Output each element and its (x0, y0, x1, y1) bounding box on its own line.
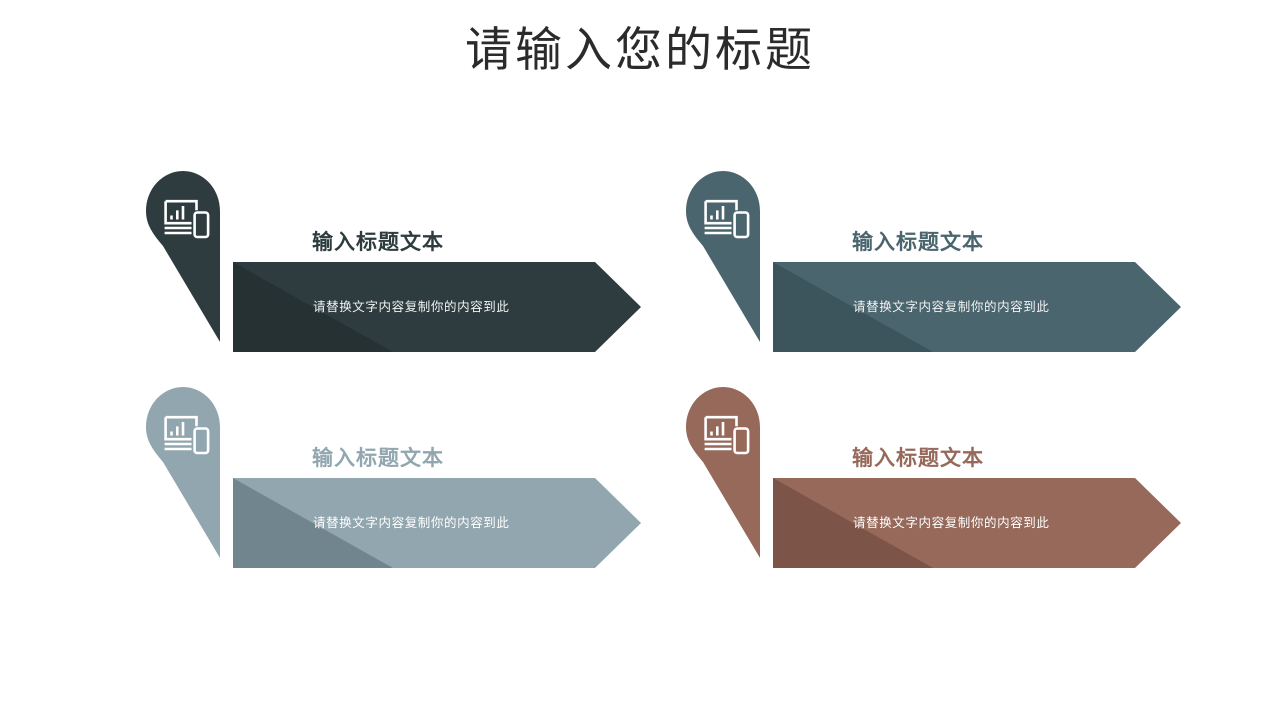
info-card[interactable]: 输入标题文本 请替换文字内容复制你的内容到此 (680, 381, 1228, 596)
chevron-banner[interactable]: 请替换文字内容复制你的内容到此 (233, 262, 641, 352)
card-heading: 输入标题文本 (312, 448, 444, 469)
monitor-chart-mobile-icon (163, 413, 211, 457)
card-body-text: 请替换文字内容复制你的内容到此 (313, 262, 510, 352)
card-body-text: 请替换文字内容复制你的内容到此 (853, 262, 1050, 352)
monitor-chart-mobile-icon (163, 197, 211, 241)
pin-marker[interactable] (685, 386, 767, 566)
card-body-text: 请替换文字内容复制你的内容到此 (313, 478, 510, 568)
chevron-banner[interactable]: 请替换文字内容复制你的内容到此 (233, 478, 641, 568)
card-heading: 输入标题文本 (852, 232, 984, 253)
chevron-banner[interactable]: 请替换文字内容复制你的内容到此 (773, 478, 1181, 568)
pin-marker[interactable] (145, 386, 227, 566)
card-grid: 输入标题文本 请替换文字内容复制你的内容到此 (0, 0, 1280, 720)
info-card[interactable]: 输入标题文本 请替换文字内容复制你的内容到此 (140, 165, 688, 380)
card-heading: 输入标题文本 (312, 232, 444, 253)
info-card[interactable]: 输入标题文本 请替换文字内容复制你的内容到此 (680, 165, 1228, 380)
monitor-chart-mobile-icon (703, 197, 751, 241)
pin-marker[interactable] (145, 170, 227, 350)
pin-marker[interactable] (685, 170, 767, 350)
chevron-banner[interactable]: 请替换文字内容复制你的内容到此 (773, 262, 1181, 352)
info-card[interactable]: 输入标题文本 请替换文字内容复制你的内容到此 (140, 381, 688, 596)
monitor-chart-mobile-icon (703, 413, 751, 457)
card-heading: 输入标题文本 (852, 448, 984, 469)
card-body-text: 请替换文字内容复制你的内容到此 (853, 478, 1050, 568)
